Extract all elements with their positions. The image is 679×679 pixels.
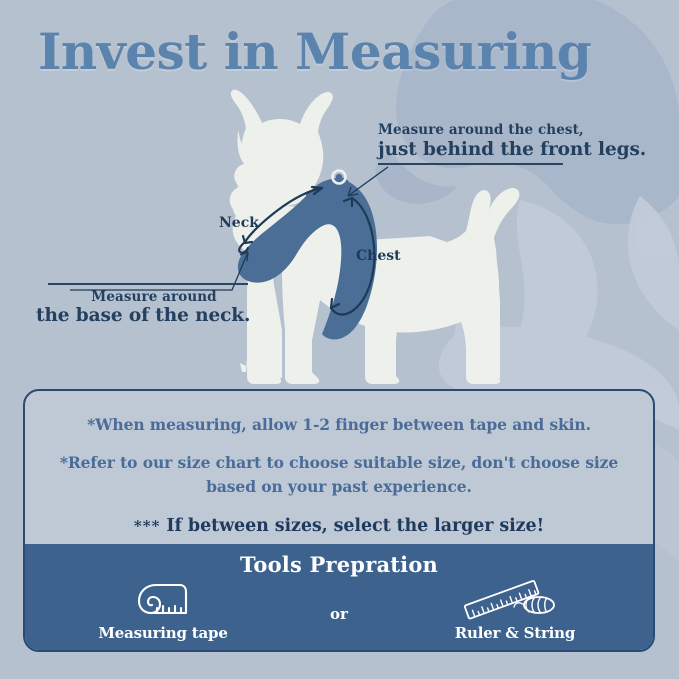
ruler-and-string-icon xyxy=(420,579,610,623)
tip-highlight: *** If between sizes, select the larger … xyxy=(51,513,627,540)
callout-neck-line1: Measure around xyxy=(36,289,272,306)
label-chest: Chest xyxy=(356,248,401,264)
tool-ruler-string: Ruler & String xyxy=(420,579,610,642)
tools-bar: Tools Prepration Measuring tape xyxy=(25,544,653,650)
tip-highlight-stars: *** xyxy=(134,517,161,535)
tool-label: Measuring tape xyxy=(68,624,258,642)
callout-chest: Measure around the chest, just behind th… xyxy=(378,122,646,165)
tips-panel: *When measuring, allow 1-2 finger betwee… xyxy=(23,389,655,652)
tip-item: *When measuring, allow 1-2 finger betwee… xyxy=(51,413,627,437)
tool-measuring-tape: Measuring tape xyxy=(68,579,258,642)
tip-highlight-text: If between sizes, select the larger size… xyxy=(166,516,544,536)
tips-list: *When measuring, allow 1-2 finger betwee… xyxy=(25,391,653,545)
tip-item: *Refer to our size chart to choose suita… xyxy=(51,451,627,499)
callout-neck-overline xyxy=(48,283,248,285)
callout-neck-line2: the base of the neck. xyxy=(36,305,296,327)
tool-label: Ruler & String xyxy=(420,624,610,642)
tools-title: Tools Prepration xyxy=(25,544,653,577)
callout-chest-line1: Measure around the chest, xyxy=(378,122,646,139)
callout-neck: Measure around the base of the neck. xyxy=(36,283,296,328)
tools-separator: or xyxy=(330,605,348,623)
infographic-canvas: Invest in Measuring xyxy=(0,0,679,679)
measuring-tape-icon xyxy=(68,579,258,623)
callout-chest-line2: just behind the front legs. xyxy=(378,139,646,161)
callout-chest-underline xyxy=(378,163,563,165)
tools-row: Measuring tape or xyxy=(25,579,653,642)
label-neck: Neck xyxy=(219,215,259,231)
